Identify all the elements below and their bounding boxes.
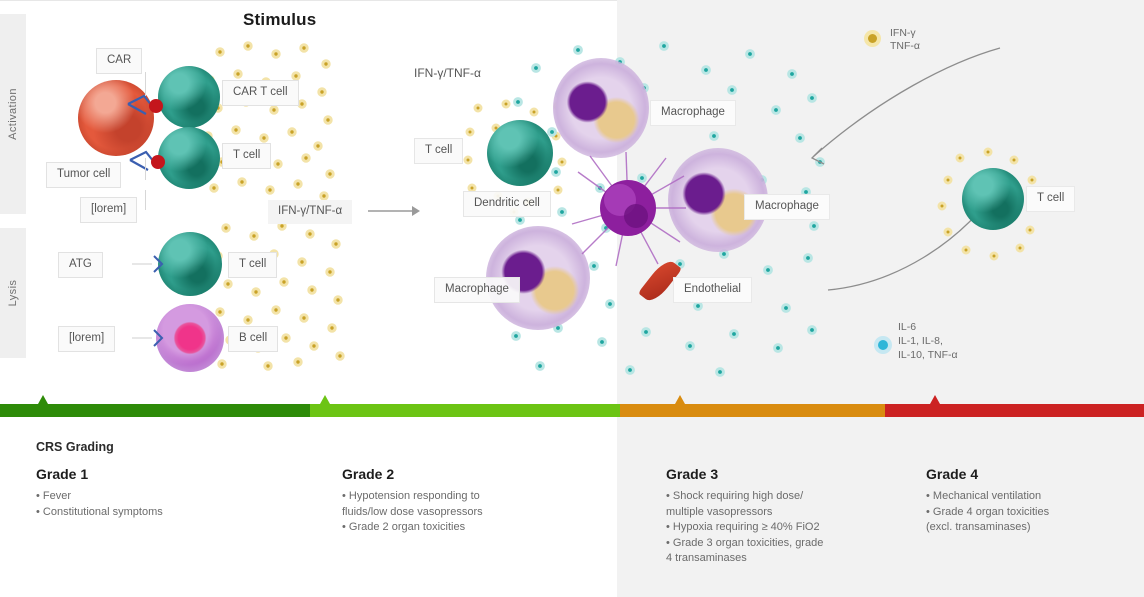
legend-text-tnf: TNF-α [890,40,920,53]
label-t-cell-activation: T cell [222,143,271,169]
label-ifn-tnf-flow: IFN-γ/TNF-α [268,200,352,224]
timeline-marker-3 [675,395,685,404]
legend-text-il10-tnf: IL-10, TNF-α [898,349,958,362]
axis-label-activation: Activation [7,88,19,140]
leader-car [145,72,146,96]
crs-grading-heading: CRS Grading [36,440,114,454]
timeline-segment-grade-4[interactable] [885,404,1144,417]
grade-1-bullet-2: • Constitutional symptoms [36,505,316,521]
grade-2-bullet-2: • Grade 2 organ toxicities [342,520,622,536]
dendritic-cell-graphic [570,150,690,270]
grade-2-bullet-1: • Hypotension responding to fluids/low d… [342,489,622,520]
label-t-cell-inflammation: T cell [414,138,463,164]
grade-1-title: Grade 1 [36,466,316,482]
legend-text-ifn: IFN-γ [890,27,916,40]
legend-dot-interleukins [878,340,888,350]
label-car: CAR [96,48,142,74]
lysis-receptor-connectors [130,248,170,378]
grade-4-bullet-2: • Grade 4 organ toxicities (excl. transa… [926,505,1141,536]
label-t-cell-feedback: T cell [1026,186,1075,212]
grade-3-bullet-1: • Shock requiring high dose/ multiple va… [666,489,916,520]
grade-3-bullet-3: • Grade 3 organ toxicities, grade 4 tran… [666,536,916,567]
grade-3-bullet-2: • Hypoxia requiring ≥ 40% FiO2 [666,520,916,536]
axis-band-activation: Activation [0,14,26,214]
grade-block-2: Grade 2 • Hypotension responding to flui… [342,466,622,536]
label-b-cell: B cell [228,326,278,352]
label-dendritic-cell: Dendritic cell [463,191,551,217]
t-cell-feedback-graphic [962,168,1024,230]
grade-2-title: Grade 2 [342,466,622,482]
label-car-t-cell: CAR T cell [222,80,299,106]
legend-text-il6: IL-6 [898,321,916,334]
top-divider [0,0,617,1]
page-title: Stimulus [243,10,316,30]
label-atg: ATG [58,252,103,278]
label-tumor-cell: Tumor cell [46,162,121,188]
legend-text-il1-il8: IL-1, IL-8, [898,335,943,348]
axis-band-lysis: Lysis [0,228,26,358]
t-cell-inflammation-graphic [487,120,553,186]
axis-label-lysis: Lysis [7,280,19,307]
leader-lorem-1 [145,190,146,210]
grade-block-1: Grade 1 • Fever • Constitutional symptom… [36,466,316,520]
timeline-segment-grade-2[interactable] [310,404,620,417]
label-lorem-1: [lorem] [80,197,137,223]
label-lorem-2: [lorem] [58,326,115,352]
grade-block-3: Grade 3 • Shock requiring high dose/ mul… [666,466,916,567]
grade-4-title: Grade 4 [926,466,1141,482]
timeline-marker-4 [930,395,940,404]
timeline-marker-1 [38,395,48,404]
timeline-segment-grade-3[interactable] [620,404,885,417]
grade-4-bullet-1: • Mechanical ventilation [926,489,1141,505]
legend-dot-ifn-tnf [868,34,877,43]
timeline-marker-2 [320,395,330,404]
label-cytokine-inflammation: IFN-γ/TNF-α [414,66,481,80]
leader-tumor [145,158,146,180]
flow-arrow-right [368,203,424,219]
label-t-cell-lysis: T cell [228,252,277,278]
label-macrophage-1: Macrophage [650,100,736,126]
crs-timeline [0,404,1144,417]
car-receptor-connectors [120,84,180,194]
label-endothelial: Endothelial [673,277,752,303]
grade-1-bullet-1: • Fever [36,489,316,505]
diagram-canvas: Activation Lysis Stimulus [0,0,1144,597]
label-macrophage-3: Macrophage [434,277,520,303]
grade-3-title: Grade 3 [666,466,916,482]
timeline-segment-grade-1[interactable] [0,404,310,417]
macrophage-1-graphic [553,58,649,158]
cytokine-cloud-gold-activation [200,40,340,200]
grade-block-4: Grade 4 • Mechanical ventilation • Grade… [926,466,1141,536]
